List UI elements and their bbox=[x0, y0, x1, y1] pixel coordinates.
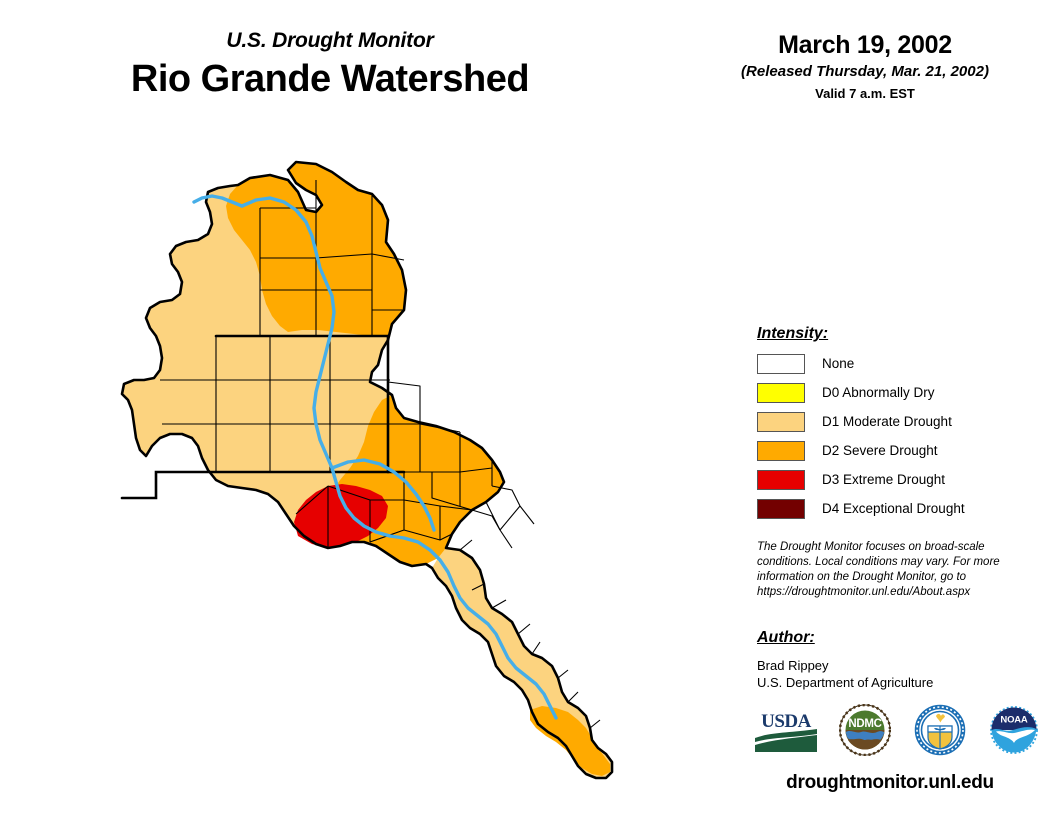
author-name: Brad Rippey bbox=[757, 657, 1047, 674]
released-note: (Released Thursday, Mar. 21, 2002) bbox=[690, 62, 1040, 82]
release-date: March 19, 2002 bbox=[690, 30, 1040, 60]
legend-item-d1: D1 Moderate Drought bbox=[757, 410, 1047, 434]
legend-heading: Intensity: bbox=[757, 324, 1047, 344]
legend-label-d4: D4 Exceptional Drought bbox=[822, 499, 965, 519]
legend-item-none: None bbox=[757, 352, 1047, 376]
usda-logo: USDA bbox=[755, 708, 817, 757]
svg-text:USDA: USDA bbox=[761, 711, 812, 732]
legend-item-d2: D2 Severe Drought bbox=[757, 439, 1047, 463]
legend-swatch-d3 bbox=[757, 470, 805, 490]
footer-url[interactable]: droughtmonitor.unl.edu bbox=[740, 772, 1040, 794]
logo-row: USDA NDMC bbox=[755, 703, 1040, 761]
header-date-block: March 19, 2002 (Released Thursday, Mar. … bbox=[690, 30, 1040, 103]
legend-item-d0: D0 Abnormally Dry bbox=[757, 381, 1047, 405]
legend-swatch-d0 bbox=[757, 383, 805, 403]
legend-item-d4: D4 Exceptional Drought bbox=[757, 497, 1047, 521]
drought-map bbox=[120, 150, 700, 800]
valid-time: Valid 7 a.m. EST bbox=[690, 85, 1040, 103]
legend-label-d1: D1 Moderate Drought bbox=[822, 412, 952, 432]
page-title: Rio Grande Watershed bbox=[0, 56, 660, 102]
svg-text:NOAA: NOAA bbox=[1000, 714, 1028, 725]
author-heading: Author: bbox=[757, 628, 1047, 648]
noaa-logo: NOAA bbox=[988, 704, 1040, 761]
svg-text:NDMC: NDMC bbox=[849, 718, 882, 730]
legend-swatch-d1 bbox=[757, 412, 805, 432]
legend-swatch-d4 bbox=[757, 499, 805, 519]
legend-label-d3: D3 Extreme Drought bbox=[822, 470, 945, 490]
disclaimer-text: The Drought Monitor focuses on broad-sca… bbox=[757, 540, 1025, 600]
legend-label-none: None bbox=[822, 354, 854, 374]
author-block: Author: Brad Rippey U.S. Department of A… bbox=[757, 628, 1047, 691]
legend-item-d3: D3 Extreme Drought bbox=[757, 468, 1047, 492]
noaa-seal-logo bbox=[914, 704, 966, 761]
legend: Intensity: None D0 Abnormally Dry D1 Mod… bbox=[757, 324, 1047, 526]
legend-label-d2: D2 Severe Drought bbox=[822, 441, 938, 461]
legend-swatch-d2 bbox=[757, 441, 805, 461]
page-subtitle: U.S. Drought Monitor bbox=[0, 28, 660, 54]
header-title-block: U.S. Drought Monitor Rio Grande Watershe… bbox=[0, 28, 660, 102]
ndmc-logo: NDMC bbox=[839, 704, 891, 761]
legend-swatch-none bbox=[757, 354, 805, 374]
author-affiliation: U.S. Department of Agriculture bbox=[757, 674, 1047, 691]
legend-label-d0: D0 Abnormally Dry bbox=[822, 383, 935, 403]
